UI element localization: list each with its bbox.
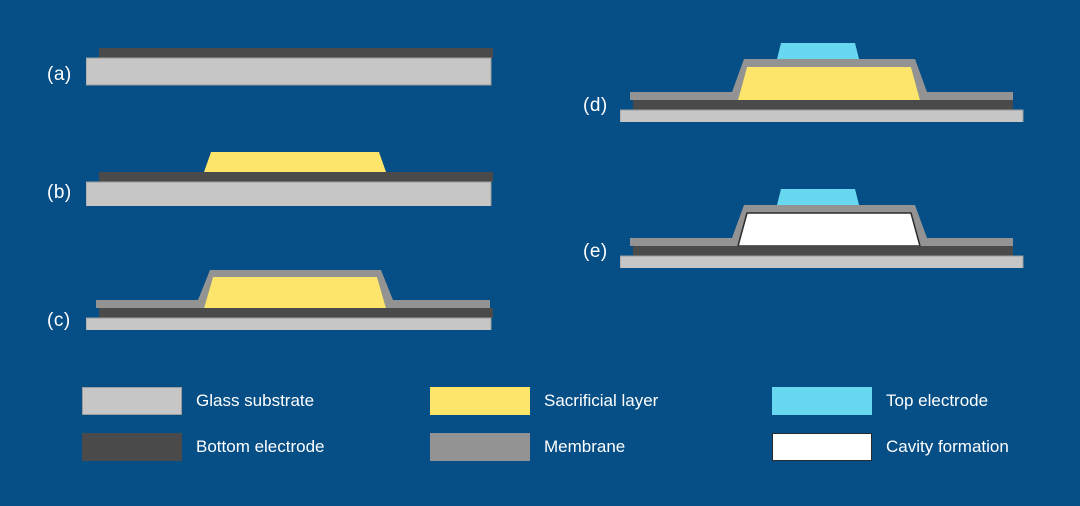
panel-label-a: (a) (47, 64, 72, 86)
panel-diagram-c (86, 266, 506, 330)
legend-label-cavity-formation: Cavity formation (886, 433, 1009, 461)
bottom-electrode-layer (99, 308, 493, 318)
legend-label-top-electrode: Top electrode (886, 387, 988, 415)
legend-label-membrane: Membrane (544, 433, 625, 461)
bottom-electrode-layer (99, 172, 493, 182)
bottom-electrode-layer (99, 48, 493, 58)
panel-label-c: (c) (47, 310, 71, 332)
panel-label-d: (d) (583, 95, 608, 117)
legend-swatch-sacrificial-layer (430, 387, 530, 415)
legend-swatch-cavity-formation (772, 433, 872, 461)
bottom-electrode-layer (633, 100, 1013, 110)
glass-substrate-layer (86, 182, 491, 206)
bottom-electrode-layer (633, 246, 1013, 256)
glass-substrate-layer (86, 318, 491, 330)
glass-substrate-layer (620, 256, 1023, 268)
process-flow-figure: (a) (b) (c) (d) (e) (0, 0, 1080, 506)
top-electrode-layer (777, 43, 859, 59)
legend-label-glass-substrate: Glass substrate (196, 387, 314, 415)
panel-label-b: (b) (47, 182, 72, 204)
sacrificial-layer (204, 277, 386, 308)
panel-diagram-b (86, 148, 506, 206)
panel-diagram-a (86, 48, 506, 88)
panel-diagram-d (620, 40, 1040, 122)
glass-substrate-layer (620, 110, 1023, 122)
sacrificial-layer (738, 67, 920, 100)
panel-diagram-e (620, 186, 1040, 268)
legend: Glass substrate Bottom electrode Sacrifi… (0, 378, 1080, 478)
legend-label-bottom-electrode: Bottom electrode (196, 433, 325, 461)
legend-swatch-membrane (430, 433, 530, 461)
cavity-formation (738, 213, 920, 246)
legend-label-sacrificial-layer: Sacrificial layer (544, 387, 658, 415)
legend-swatch-glass-substrate (82, 387, 182, 415)
legend-swatch-bottom-electrode (82, 433, 182, 461)
top-electrode-layer (777, 189, 859, 205)
sacrificial-layer (204, 152, 386, 172)
glass-substrate-layer (86, 58, 491, 85)
panel-label-e: (e) (583, 241, 608, 263)
legend-swatch-top-electrode (772, 387, 872, 415)
